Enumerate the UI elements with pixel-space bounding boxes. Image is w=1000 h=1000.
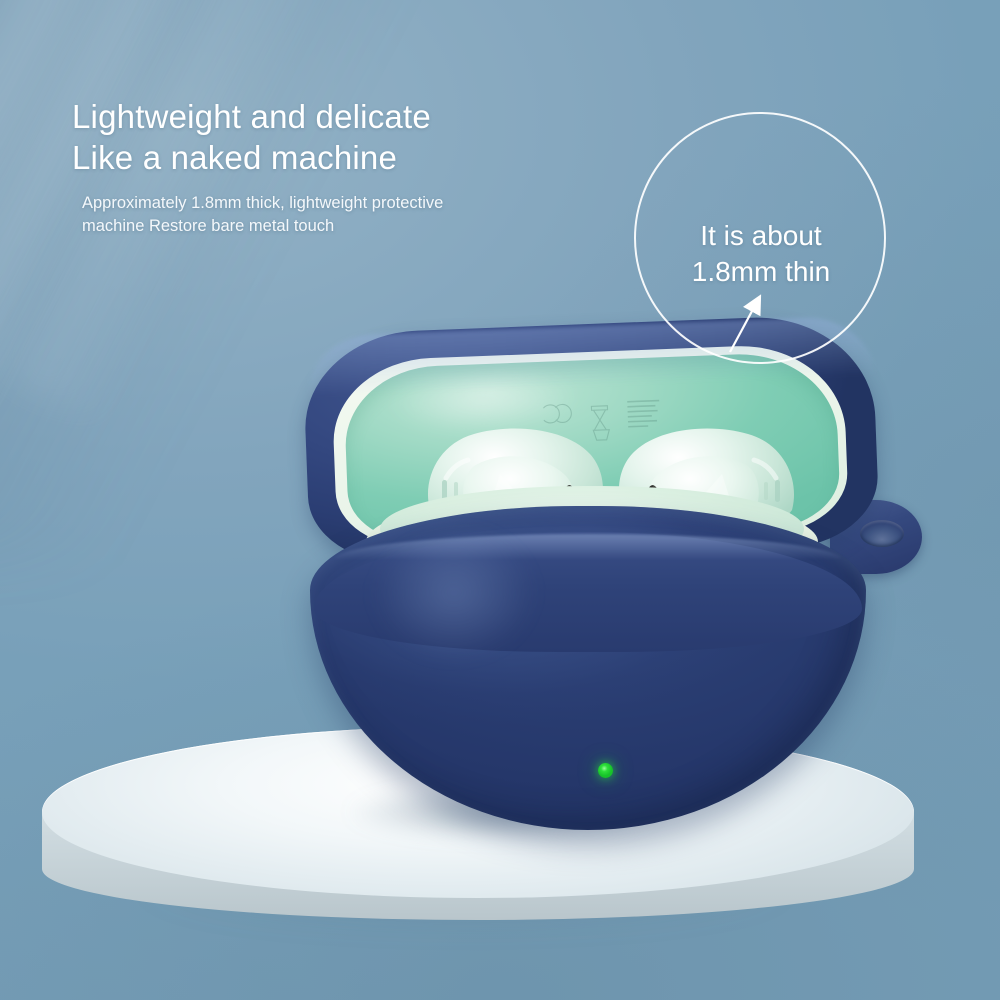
charging-led-indicator: [598, 763, 613, 778]
product-feature-image: Lightweight and delicate Like a naked ma…: [0, 0, 1000, 1000]
thickness-pointer-arrow: [700, 280, 860, 390]
earbuds-charging-case: [288, 318, 928, 828]
headline-line-2: Like a naked machine: [72, 137, 632, 178]
case-body-sheen: [362, 532, 592, 722]
marketing-copy: Lightweight and delicate Like a naked ma…: [72, 96, 632, 238]
keychain-loop-hole: [860, 520, 904, 547]
headline-line-1: Lightweight and delicate: [72, 96, 632, 137]
subcopy: Approximately 1.8mm thick, lightweight p…: [82, 192, 552, 238]
